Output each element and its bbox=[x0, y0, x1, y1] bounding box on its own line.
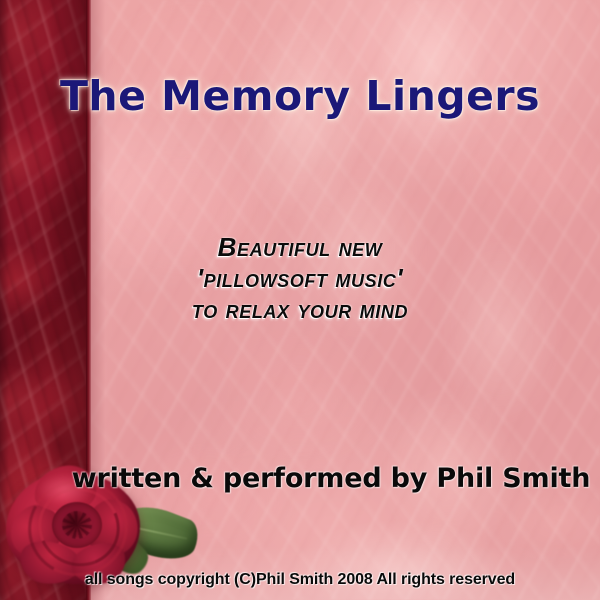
album-tagline: Beautiful new 'pillowsoft music' to rela… bbox=[0, 232, 600, 325]
tagline-line-2: 'pillowsoft music' bbox=[0, 263, 600, 294]
album-title: The Memory Lingers bbox=[0, 72, 600, 120]
artist-credit: written & performed by Phil Smith bbox=[0, 463, 600, 494]
album-cover: The Memory Lingers Beautiful new 'pillow… bbox=[0, 0, 600, 600]
tagline-line-1: Beautiful new bbox=[0, 232, 600, 263]
copyright-notice: all songs copyright (C)Phil Smith 2008 A… bbox=[0, 571, 600, 589]
rose-center bbox=[52, 502, 102, 548]
tagline-line-3: to relax your mind bbox=[0, 294, 600, 325]
